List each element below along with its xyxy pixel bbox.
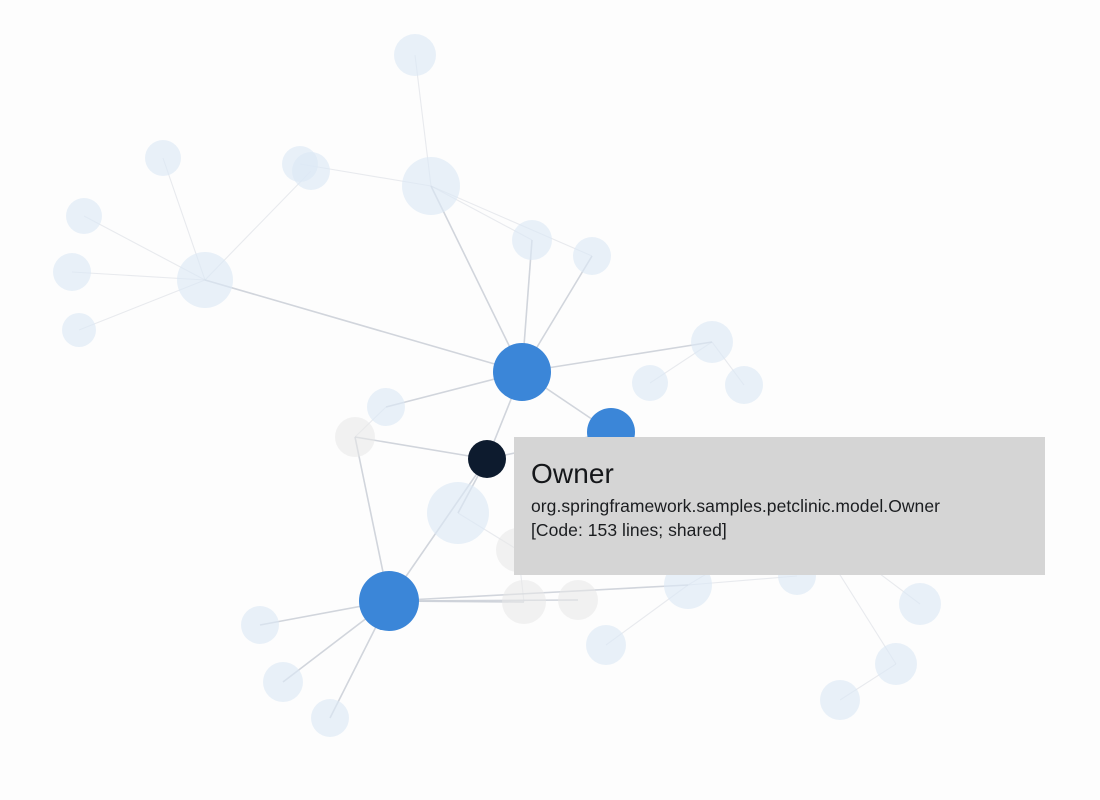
graph-node-hit[interactable] (502, 580, 546, 624)
graph-node-hit[interactable] (558, 580, 598, 620)
graph-node-hit[interactable] (820, 680, 860, 720)
graph-node-hit[interactable] (241, 606, 279, 644)
node-tooltip: Owner org.springframework.samples.petcli… (514, 437, 1045, 575)
graph-edge (205, 280, 522, 372)
graph-node-hit[interactable] (263, 662, 303, 702)
graph-node-selected[interactable] (468, 440, 506, 478)
graph-node-hit[interactable] (586, 625, 626, 665)
graph-edge (431, 186, 522, 372)
graph-node-hit[interactable] (493, 343, 551, 401)
graph-node-hit[interactable] (66, 198, 102, 234)
tooltip-title: Owner (531, 457, 1045, 491)
graph-node-hit[interactable] (177, 252, 233, 308)
graph-node-hit[interactable] (145, 140, 181, 176)
graph-node-hit[interactable] (335, 417, 375, 457)
graph-node-hit[interactable] (875, 643, 917, 685)
graph-node-hit[interactable] (53, 253, 91, 291)
graph-node-hit[interactable] (691, 321, 733, 363)
graph-node-hit[interactable] (573, 237, 611, 275)
graph-node-hit[interactable] (725, 366, 763, 404)
graph-node-hit[interactable] (311, 699, 349, 737)
dependency-graph[interactable] (0, 0, 1100, 800)
graph-node-hit[interactable] (899, 583, 941, 625)
graph-node-hit[interactable] (282, 146, 318, 182)
graph-canvas-container[interactable]: Owner org.springframework.samples.petcli… (0, 0, 1100, 800)
graph-node-hit[interactable] (632, 365, 668, 401)
graph-node-hit[interactable] (359, 571, 419, 631)
tooltip-metrics: [Code: 153 lines; shared] (531, 518, 1045, 542)
graph-node-hit[interactable] (367, 388, 405, 426)
graph-node-hit[interactable] (402, 157, 460, 215)
graph-node-hit[interactable] (394, 34, 436, 76)
graph-node-hit[interactable] (427, 482, 489, 544)
graph-node-hit[interactable] (62, 313, 96, 347)
graph-node-hit[interactable] (512, 220, 552, 260)
tooltip-qualified-name: org.springframework.samples.petclinic.mo… (531, 494, 1045, 518)
